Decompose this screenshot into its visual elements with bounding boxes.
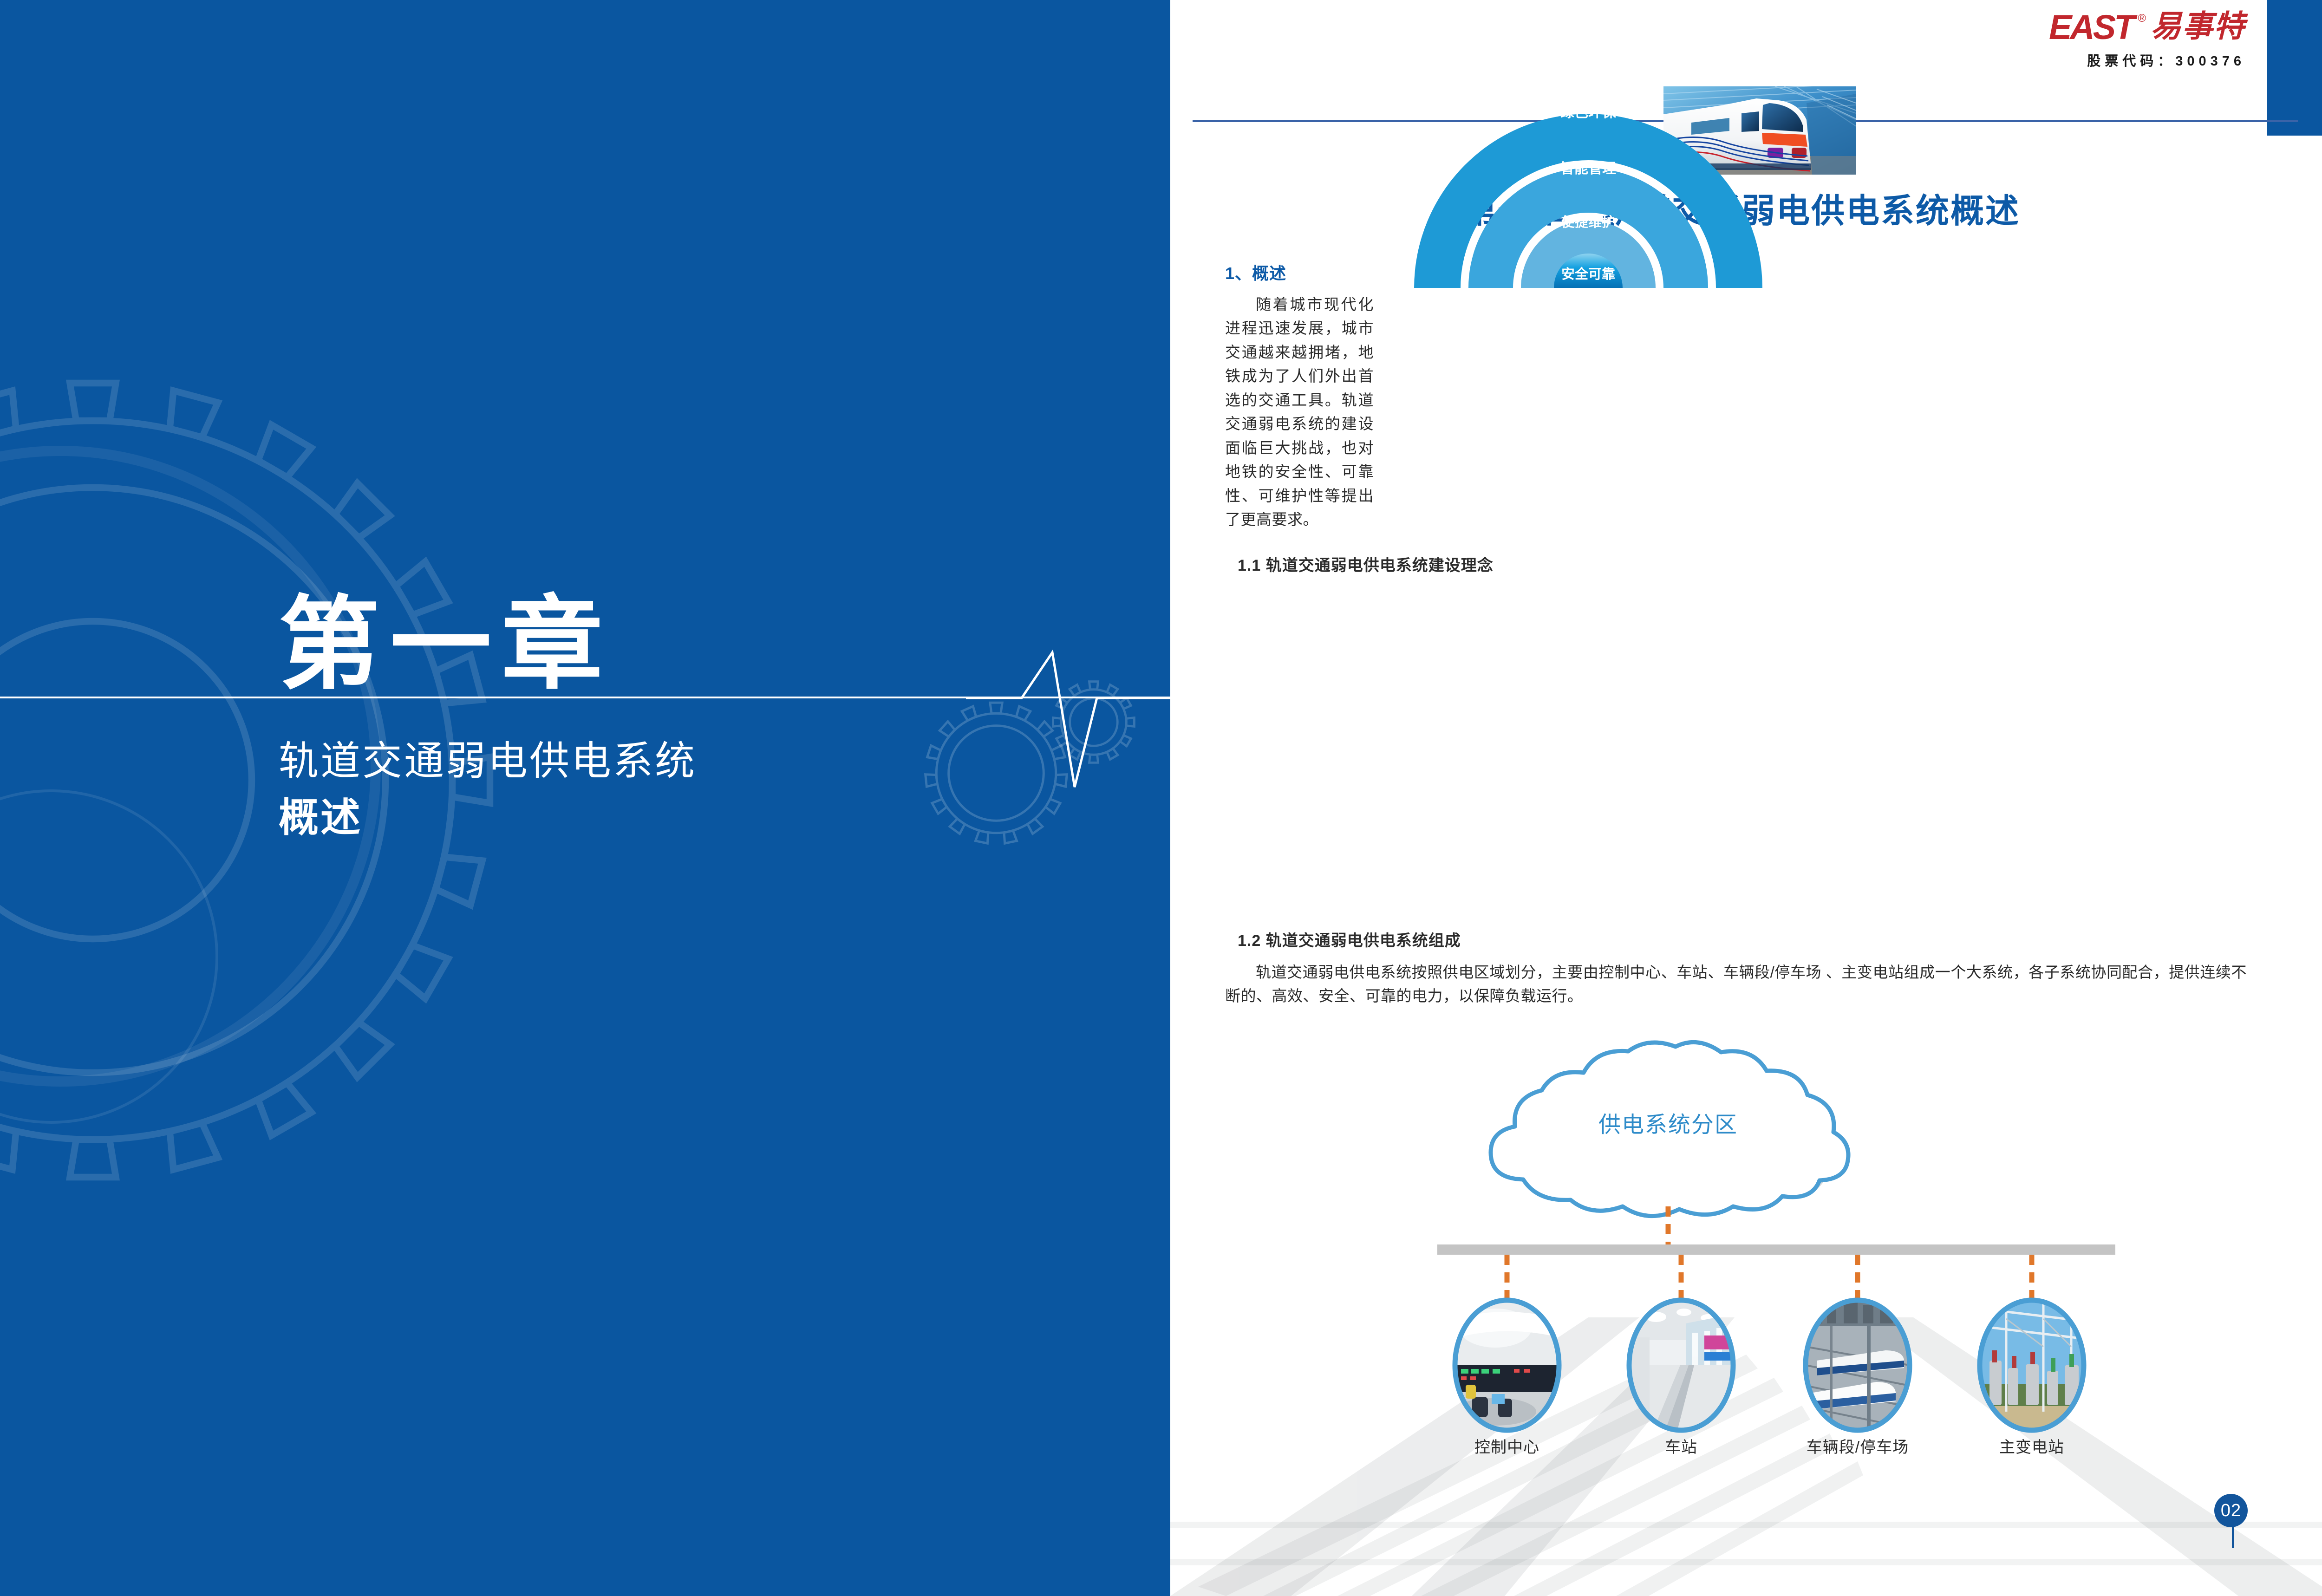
registered-trademark-icon: ® bbox=[2138, 13, 2146, 24]
page-number-badge: 02 bbox=[2214, 1494, 2251, 1548]
section-1-heading: 1、概述 bbox=[1225, 260, 1286, 284]
arc-label-2: 智能管理 bbox=[1560, 161, 1616, 176]
pulse-line-decoration bbox=[966, 648, 1170, 796]
company-logo: EAST ® 易事特 股票代码：300376 bbox=[2004, 11, 2245, 70]
node-label-1: 控制中心 bbox=[1474, 1439, 1539, 1456]
chapter-cover-panel: 第一章 轨道交通弱电供电系统 概述 bbox=[0, 0, 1170, 1596]
arc-label-1: 绿色环保 bbox=[1560, 105, 1617, 120]
page-number-text: 02 bbox=[2214, 1494, 2248, 1527]
content-page: EAST ® 易事特 股票代码：300376 第一章 轨道交通弱电供电系统概述 … bbox=[1170, 0, 2322, 1596]
chapter-subtitle-line-1: 轨道交通弱电供电系统 bbox=[279, 733, 975, 789]
arc-label-3: 便捷维护 bbox=[1561, 215, 1615, 230]
chapter-subtitle: 轨道交通弱电供电系统 概述 bbox=[279, 733, 975, 846]
stock-code-label: 股票代码：300376 bbox=[2004, 50, 2245, 70]
page-badge-stem bbox=[2232, 1527, 2234, 1548]
section-1-paragraph: 随着城市现代化进程迅速发展，城市交通越来越拥堵，地铁成为了人们外出首选的交通工具… bbox=[1225, 293, 1374, 532]
power-supply-zoning-diagram: 供电系统分区 bbox=[1170, 1040, 2313, 1467]
chapter-subtitle-line-2: 概述 bbox=[279, 789, 975, 846]
arc-label-4: 安全可靠 bbox=[1561, 266, 1615, 282]
cloud-label: 供电系统分区 bbox=[1598, 1113, 1738, 1137]
node-label-3: 车辆段/停车场 bbox=[1807, 1439, 1909, 1456]
section-1-1-heading: 1.1 轨道交通弱电供电系统建设理念 bbox=[1238, 553, 1494, 575]
chapter-number: 第一章 bbox=[279, 594, 613, 696]
brand-name-chinese: 易事特 bbox=[2151, 11, 2245, 42]
node-label-2: 车站 bbox=[1665, 1439, 1697, 1456]
east-wordmark: EAST bbox=[2049, 11, 2133, 44]
section-1-2-heading: 1.2 轨道交通弱电供电系统组成 bbox=[1238, 928, 1461, 951]
page-edge-accent-strip bbox=[2267, 0, 2322, 136]
section-1-2-paragraph: 轨道交通弱电供电系统按照供电区域划分，主要由控制中心、车站、车辆段/停车场 、主… bbox=[1225, 960, 2247, 1008]
construction-concept-arc-diagram: 绿色环保 智能管理 便捷维护 安全可靠 bbox=[1389, 65, 1788, 358]
node-label-4: 主变电站 bbox=[1999, 1439, 2064, 1456]
bus-bar bbox=[1437, 1244, 2115, 1255]
